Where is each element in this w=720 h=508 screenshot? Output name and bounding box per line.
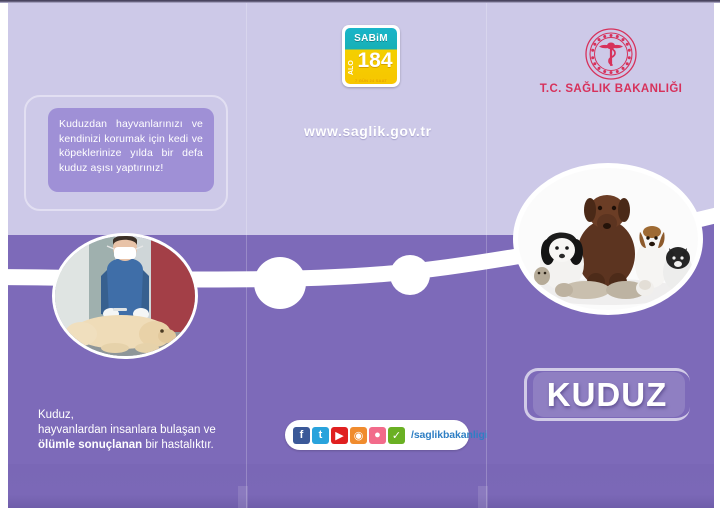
brochure-page: SABiM ALO 184 7 GÜN 24 SAAT <box>0 0 720 508</box>
facebook-icon[interactable]: f <box>293 427 310 444</box>
veterinarian-vaccinating-dog-photo <box>52 233 198 359</box>
whatsapp-icon[interactable]: ✓ <box>388 427 405 444</box>
sabim-brand-band: SABiM <box>345 28 397 49</box>
sabim-brand-text: SABiM <box>354 33 388 44</box>
twitter-icon[interactable]: t <box>312 427 329 444</box>
bottom-fold-strip <box>8 464 714 508</box>
fold-crease-left <box>246 3 247 508</box>
scan-edge-line <box>0 0 720 3</box>
fold-crease-right <box>486 3 487 508</box>
page-title: KUDUZ <box>524 368 690 421</box>
description-line-1: Kuduz, <box>38 408 216 423</box>
sabim-phone-number: 184 <box>353 50 397 72</box>
social-media-bar[interactable]: f t ▶ ◉ ● ✓ /saglikbakanligi <box>285 420 469 450</box>
ministry-of-health-emblem-icon <box>584 27 638 81</box>
social-handle[interactable]: /saglikbakanligi <box>411 429 488 441</box>
ministry-label: T.C. SAĞLIK BAKANLIĞI <box>528 83 694 95</box>
description-line-3: ölümle sonuçlanan bir hastalıktır. <box>38 438 216 453</box>
youtube-icon[interactable]: ▶ <box>331 427 348 444</box>
prevention-callout-box: Kuduzdan hayvanlarınızı ve kendinizi kor… <box>48 108 214 192</box>
kuduz-title-badge: KUDUZ <box>524 368 690 421</box>
sabim-subtitle: 7 GÜN 24 SAAT <box>345 78 397 83</box>
website-url[interactable]: www.saglik.gov.tr <box>304 123 432 139</box>
group-of-dogs-and-cats-photo <box>513 163 703 315</box>
description-line-2: hayvanlardan insanlara bulaşan ve <box>38 423 216 438</box>
description-line-3-rest: bir hastalıktır. <box>142 439 214 451</box>
sabim-hotline-logo[interactable]: SABiM ALO 184 7 GÜN 24 SAAT <box>342 25 400 87</box>
page-canvas: SABiM ALO 184 7 GÜN 24 SAAT <box>8 3 714 508</box>
disease-description: Kuduz, hayvanlardan insanlara bulaşan ve… <box>38 408 216 453</box>
description-emphasis: ölümle sonuçlanan <box>38 439 142 451</box>
sabim-logo-inner: SABiM ALO 184 7 GÜN 24 SAAT <box>345 28 397 84</box>
flickr-icon[interactable]: ● <box>369 427 386 444</box>
sabim-number-band: ALO 184 7 GÜN 24 SAAT <box>345 48 397 84</box>
instagram-icon[interactable]: ◉ <box>350 427 367 444</box>
ministry-logo-block: T.C. SAĞLIK BAKANLIĞI <box>528 27 694 105</box>
